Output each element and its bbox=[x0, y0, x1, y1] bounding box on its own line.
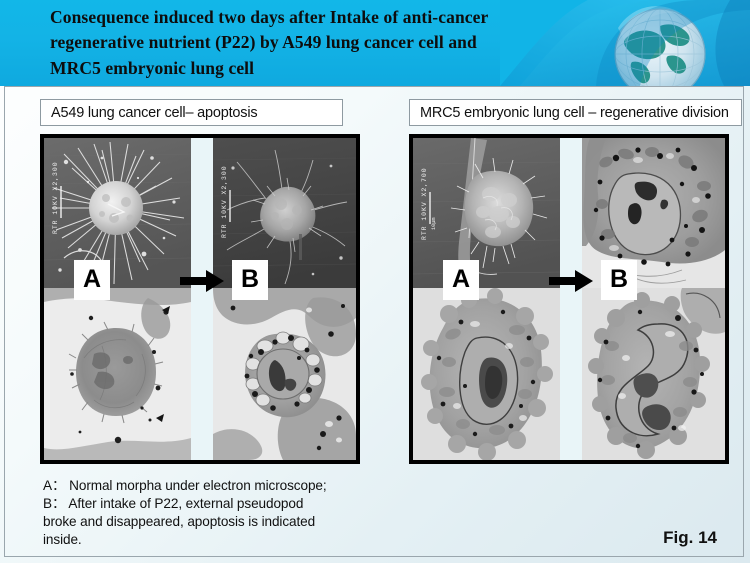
right-arrow-icon-right bbox=[549, 270, 593, 292]
micrograph-mrc5-tem-c bbox=[582, 288, 725, 460]
micrograph-block-mrc5: RTR 10KV X2,700 10µm bbox=[409, 134, 729, 464]
label-b-left: B bbox=[232, 260, 268, 300]
page-title: Consequence induced two days after Intak… bbox=[50, 5, 640, 81]
panel-title-mrc5: MRC5 embryonic lung cell – regenerative … bbox=[409, 99, 742, 126]
micrograph-mrc5-tem-b bbox=[413, 288, 560, 460]
svg-text:10µm: 10µm bbox=[431, 218, 437, 230]
label-a-left: A bbox=[74, 260, 110, 300]
caption-line-4: inside. bbox=[43, 531, 383, 549]
sem-annotation-text: RTR 10KV X2,300 bbox=[52, 161, 59, 234]
svg-text:RTR 10KV X2,700: RTR 10KV X2,700 bbox=[421, 167, 428, 240]
content-frame: A549 lung cancer cell– apoptosis bbox=[4, 86, 744, 557]
sem-annotation-text: RTR 10KV X2,700 bbox=[421, 167, 428, 240]
right-arrow-icon-left bbox=[180, 270, 224, 292]
header-banner: Consequence induced two days after Intak… bbox=[0, 0, 750, 86]
caption-a549: A： Normal morpha under electron microsco… bbox=[43, 477, 383, 549]
panel-a549: A549 lung cancer cell– apoptosis bbox=[22, 87, 377, 464]
caption-line-1: A： Normal morpha under electron microsco… bbox=[43, 477, 383, 495]
panel-title-a549: A549 lung cancer cell– apoptosis bbox=[40, 99, 343, 126]
caption-line-2: B： After intake of P22, external pseudop… bbox=[43, 495, 383, 513]
svg-text:RTR 10KV X2,300: RTR 10KV X2,300 bbox=[52, 161, 59, 234]
title-line-3: MRC5 embryonic lung cell bbox=[50, 56, 640, 81]
micrograph-a549-tem-a bbox=[44, 288, 191, 460]
title-line-1: Consequence induced two days after Intak… bbox=[50, 5, 640, 30]
label-b-right: B bbox=[601, 260, 637, 300]
micrograph-a549-tem-b bbox=[213, 288, 356, 460]
figure-label: Fig. 14 bbox=[663, 528, 717, 548]
panel-mrc5: MRC5 embryonic lung cell – regenerative … bbox=[409, 87, 745, 464]
micrograph-mrc5-sem-a: RTR 10KV X2,700 10µm bbox=[413, 138, 560, 288]
title-line-2: regenerative nutrient (P22) by A549 lung… bbox=[50, 30, 640, 55]
micrograph-block-a549: RTR 10KV X2,300 bbox=[40, 134, 360, 464]
sem-annotation-text: RTR 10KV X2,300 bbox=[221, 165, 228, 238]
label-a-right: A bbox=[443, 260, 479, 300]
svg-text:RTR 10KV X2,300: RTR 10KV X2,300 bbox=[221, 165, 228, 238]
caption-line-3: broke and disappeared, apoptosis is indi… bbox=[43, 513, 383, 531]
micrograph-a549-sem-a: RTR 10KV X2,300 bbox=[44, 138, 191, 288]
